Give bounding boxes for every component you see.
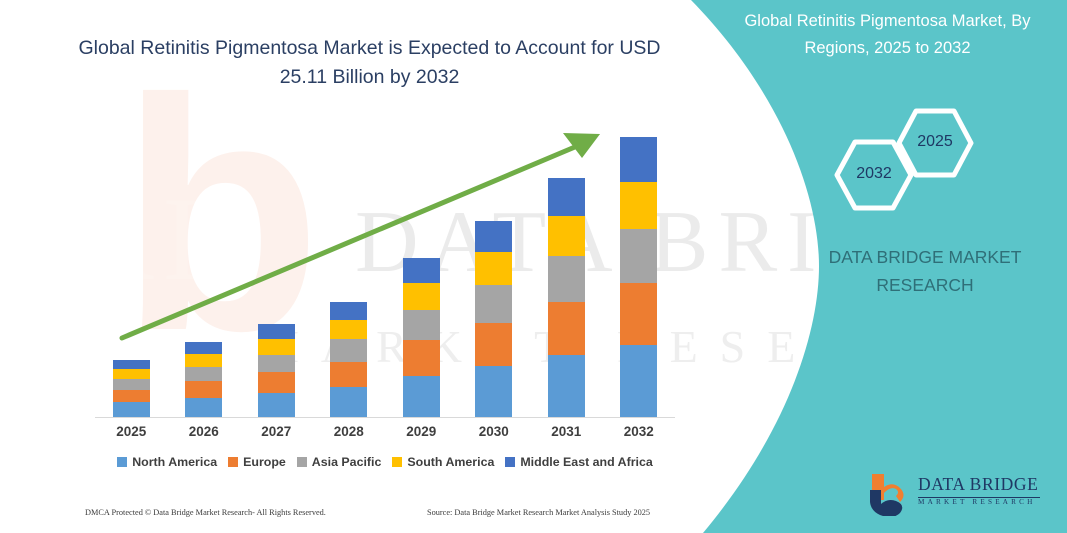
x-axis-label: 2025 — [113, 424, 150, 439]
legend-label: Middle East and Africa — [520, 455, 652, 469]
legend-item[interactable]: Middle East and Africa — [505, 455, 652, 469]
growth-arrow — [95, 120, 675, 418]
hexagon-end-year: 2032 — [834, 139, 914, 211]
legend-swatch-icon — [505, 457, 515, 467]
x-axis-label: 2029 — [403, 424, 440, 439]
legend-label: Europe — [243, 455, 286, 469]
legend-label: North America — [132, 455, 217, 469]
x-axis-labels: 20252026202720282029203020312032 — [95, 424, 675, 439]
logo-tagline: MARKET RESEARCH — [918, 498, 1036, 506]
legend-item[interactable]: North America — [117, 455, 217, 469]
x-axis-label: 2030 — [475, 424, 512, 439]
regions-title: Global Retinitis Pigmentosa Market, By R… — [715, 8, 1060, 62]
legend-swatch-icon — [228, 457, 238, 467]
teal-watermark-2: RE — [0, 330, 96, 397]
legend-label: South America — [407, 455, 494, 469]
logo-name: DATA BRIDGE — [918, 474, 1038, 495]
footer-source: Source: Data Bridge Market Research Mark… — [427, 508, 650, 517]
hexagon-end-year-label: 2032 — [834, 165, 914, 183]
legend-item[interactable]: Europe — [228, 455, 286, 469]
x-axis-label: 2032 — [620, 424, 657, 439]
logo-mark-icon — [866, 470, 914, 516]
x-axis-label: 2027 — [258, 424, 295, 439]
legend-item[interactable]: South America — [392, 455, 494, 469]
x-axis-label: 2031 — [548, 424, 585, 439]
chart-legend: North AmericaEuropeAsia PacificSouth Ame… — [95, 455, 675, 469]
legend-item[interactable]: Asia Pacific — [297, 455, 382, 469]
footer-copyright: DMCA Protected © Data Bridge Market Rese… — [85, 508, 326, 517]
legend-swatch-icon — [392, 457, 402, 467]
x-axis-label: 2026 — [185, 424, 222, 439]
legend-swatch-icon — [117, 457, 127, 467]
legend-label: Asia Pacific — [312, 455, 382, 469]
brand-name: DATA BRIDGE MARKET RESEARCH — [790, 243, 1060, 299]
page-title: Global Retinitis Pigmentosa Market is Ex… — [62, 34, 677, 92]
infographic-canvas: b DATA BRIDGE MARKET RESEARCH Global Ret… — [0, 0, 1067, 533]
company-logo: DATA BRIDGE MARKET RESEARCH — [866, 470, 1046, 518]
legend-swatch-icon — [297, 457, 307, 467]
x-axis-label: 2028 — [330, 424, 367, 439]
